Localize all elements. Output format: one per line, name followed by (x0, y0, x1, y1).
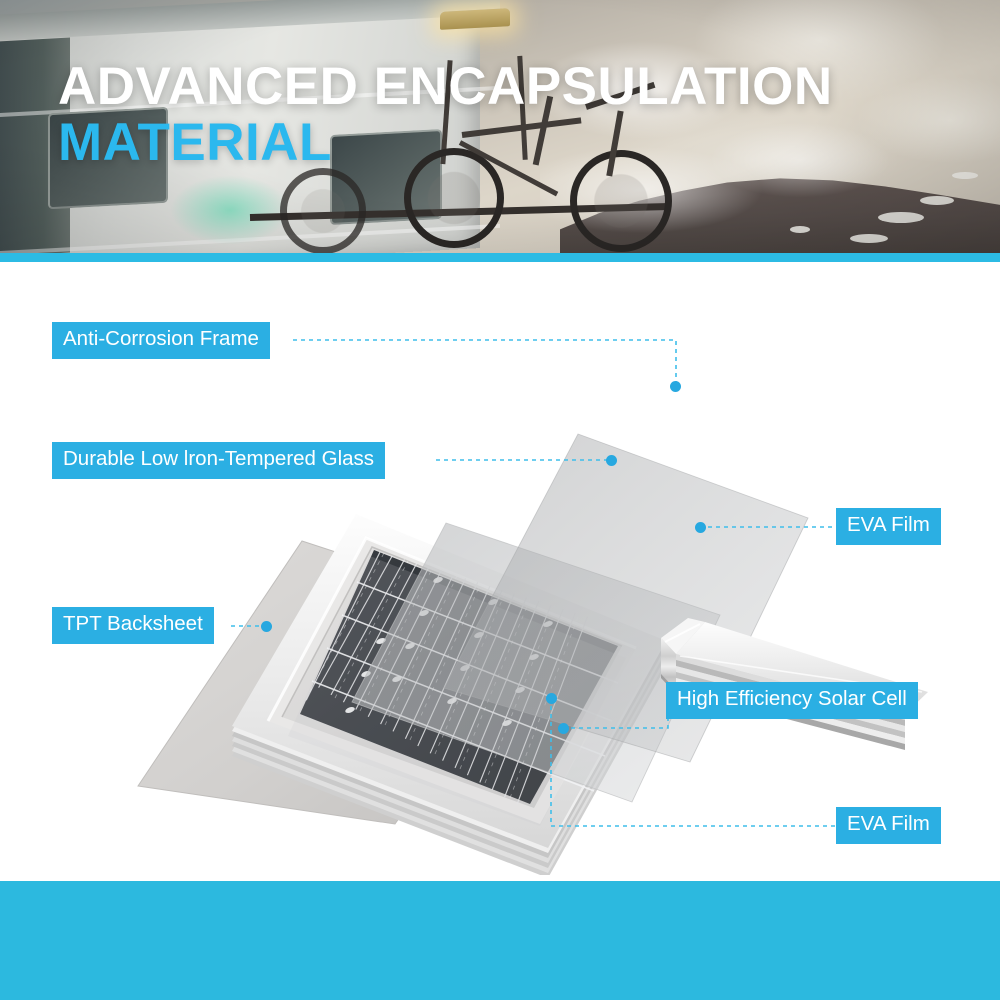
hero-banner: ADVANCED ENCAPSULATION MATERIAL (0, 0, 1000, 262)
leader-dot-eva-film-top (695, 522, 706, 533)
leader-dot-solar-cell (558, 723, 569, 734)
exploded-diagram: Anti-Corrosion Frame Durable Low lron-Te… (0, 262, 1000, 875)
leader-dot-eva-film-bottom (546, 693, 557, 704)
label-text: EVA Film (847, 812, 930, 835)
leader-dot-tempered-glass (606, 455, 617, 466)
label-text: High Efficiency Solar Cell (677, 687, 907, 710)
label-text: Anti-Corrosion Frame (63, 327, 259, 350)
leader-dot-anti-corrosion-frame (670, 381, 681, 392)
infographic-page: ADVANCED ENCAPSULATION MATERIAL (0, 0, 1000, 1000)
label-eva-film-bottom: EVA Film (836, 807, 941, 844)
hero-accent-strip (0, 253, 1000, 262)
label-tpt-backsheet: TPT Backsheet (52, 607, 214, 644)
label-solar-cell: High Efficiency Solar Cell (666, 682, 918, 719)
label-tempered-glass: Durable Low lron-Tempered Glass (52, 442, 385, 479)
hero-title-line2: MATERIAL (58, 118, 958, 168)
label-anti-corrosion-frame: Anti-Corrosion Frame (52, 322, 270, 359)
leader-dot-tpt-backsheet (261, 621, 272, 632)
label-text: EVA Film (847, 513, 930, 536)
label-eva-film-top: EVA Film (836, 508, 941, 545)
caption-bar: Multi-layered sheet laminations enhance … (0, 881, 1000, 1000)
hero-title-line1: ADVANCED ENCAPSULATION (58, 62, 958, 112)
label-text: Durable Low lron-Tempered Glass (63, 447, 374, 470)
label-text: TPT Backsheet (63, 612, 203, 635)
hero-title: ADVANCED ENCAPSULATION MATERIAL (58, 62, 958, 169)
